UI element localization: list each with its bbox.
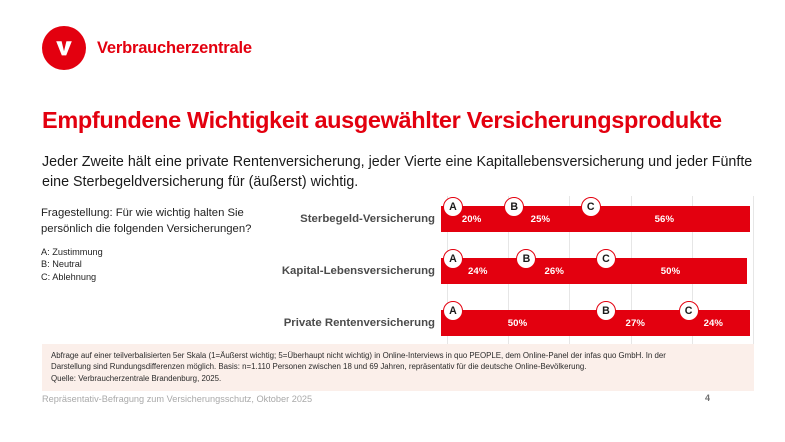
table-row: Private Rentenversicherung 50%A27%B24%C [255, 310, 755, 336]
question-block: Fragestellung: Für wie wichtig halten Si… [41, 206, 273, 283]
stacked-bar-chart: Sterbegeld-Versicherung 20%A25%B56%C Kap… [255, 196, 755, 344]
page-number: 4 [705, 393, 710, 403]
category-badge-c: C [581, 197, 601, 217]
category-badge-a: A [443, 301, 463, 321]
verbraucherzentrale-v-logo-icon [42, 26, 86, 70]
category-badge-c: C [596, 249, 616, 269]
bar-track-rente: 50%A27%B24%C [441, 310, 747, 336]
row-label-sterbegeld: Sterbegeld-Versicherung [255, 213, 441, 225]
footnote-line: Abfrage auf einer teilverbalisierten 5er… [51, 350, 745, 361]
category-badge-a: A [443, 249, 463, 269]
bar-segment-c: 56% [579, 206, 750, 232]
row-label-rente: Private Rentenversicherung [255, 317, 441, 329]
page-title: Empfundene Wichtigkeit ausgewählter Vers… [42, 107, 722, 134]
bar-segment-a: 50% [441, 310, 594, 336]
bar-segment-value: 56% [655, 214, 675, 225]
category-badge-c: C [679, 301, 699, 321]
bar-track-sterbegeld: 20%A25%B56%C [441, 206, 747, 232]
bar-segment-value: 27% [626, 318, 646, 329]
bar-segment-value: 50% [661, 266, 681, 277]
brand-logo: Verbraucherzentrale [42, 26, 252, 70]
bar-segment-c: 50% [594, 258, 747, 284]
bar-segment-value: 25% [531, 214, 551, 225]
category-badge-a: A [443, 197, 463, 217]
brand-name: Verbraucherzentrale [97, 39, 252, 58]
bar-segment-value: 24% [704, 318, 724, 329]
footnote-source: Quelle: Verbraucherzentrale Brandenburg,… [51, 373, 745, 384]
legend-item-a: A: Zustimmung [41, 246, 273, 258]
bar-segment-value: 26% [544, 266, 564, 277]
legend-item-c: C: Ablehnung [41, 271, 273, 283]
question-text: Fragestellung: Für wie wichtig halten Si… [41, 206, 273, 237]
bar-segment-value: 50% [508, 318, 528, 329]
footnote-line: Darstellung sind Rundungsdifferenzen mög… [51, 361, 745, 372]
table-row: Kapital-Lebensversicherung 24%A26%B50%C [255, 258, 755, 284]
table-row: Sterbegeld-Versicherung 20%A25%B56%C [255, 206, 755, 232]
row-label-kapital: Kapital-Lebensversicherung [255, 265, 441, 277]
bar-segment-value: 20% [462, 214, 482, 225]
footnote-box: Abfrage auf einer teilverbalisierten 5er… [42, 344, 754, 391]
legend-list: A: Zustimmung B: Neutral C: Ablehnung [41, 246, 273, 283]
bar-track-kapital: 24%A26%B50%C [441, 258, 747, 284]
legend-item-b: B: Neutral [41, 258, 273, 270]
bar-segment-value: 24% [468, 266, 488, 277]
footer-caption: Repräsentativ-Befragung zum Versicherung… [42, 394, 312, 404]
subtitle: Jeder Zweite hält eine private Rentenver… [42, 152, 757, 192]
category-badge-b: B [596, 301, 616, 321]
